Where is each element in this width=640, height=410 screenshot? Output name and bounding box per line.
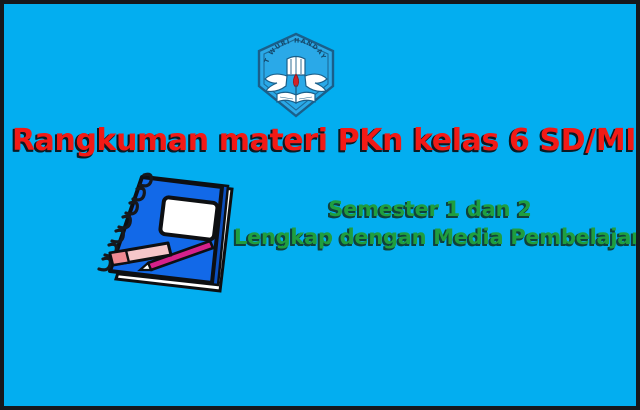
poster-canvas: TUT WURI HANDAYANI [0, 0, 640, 410]
poster-title: Rangkuman materi PKn kelas 6 SD/MI [4, 124, 640, 158]
poster-subtitle: Semester 1 dan 2 Lengkap dengan Media Pe… [234, 196, 626, 252]
subtitle-line-semester: Semester 1 dan 2 [234, 196, 626, 222]
tut-wuri-handayani-logo: TUT WURI HANDAYANI [253, 31, 339, 119]
notebook-label [160, 197, 218, 240]
logo-crown [287, 57, 305, 76]
subtitle-line-media: Lengkap dengan Media Pembelajaran [234, 222, 626, 252]
notebook-illustration [70, 167, 260, 299]
